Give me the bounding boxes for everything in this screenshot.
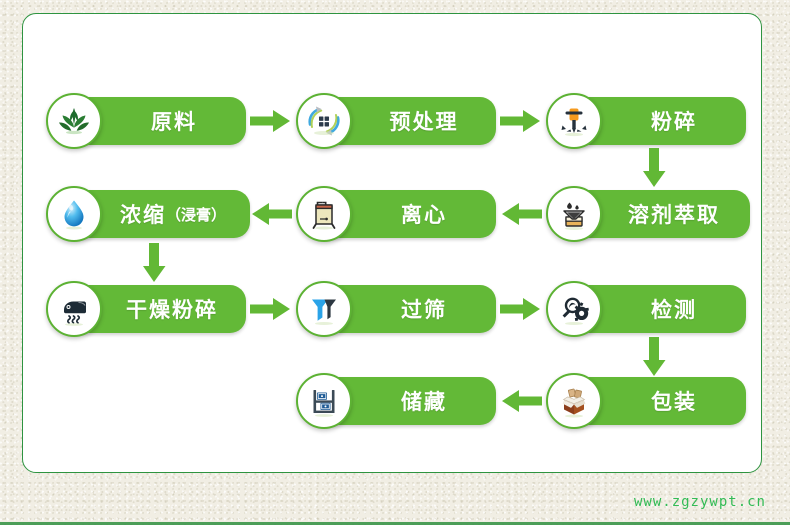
flow-node-crushing[interactable]: 粉碎 <box>546 93 746 149</box>
herb-leaves-icon <box>46 93 102 149</box>
label-text: 过筛 <box>401 294 447 324</box>
jackhammer-crush-icon <box>546 93 602 149</box>
flow-node-pretreatment[interactable]: 预处理 <box>296 93 496 149</box>
flow-node-inspection[interactable]: 检测 <box>546 281 746 337</box>
flow-node-label-solvent-extract: 溶剂萃取 <box>598 190 750 238</box>
flow-node-label-concentration: 浓缩（浸膏） <box>96 190 250 238</box>
connector-inspection-to-packaging <box>641 337 667 377</box>
flow-node-sieving[interactable]: 过筛 <box>296 281 496 337</box>
label-text: 溶剂萃取 <box>628 199 720 229</box>
flow-node-label-sieving: 过筛 <box>352 285 496 333</box>
flow-node-label-dry-pulverize: 干燥粉碎 <box>98 285 246 333</box>
recycle-process-icon <box>296 93 352 149</box>
label-text: 浓缩 <box>120 199 166 229</box>
site-url-watermark: www.zgzywpt.cn <box>634 494 766 510</box>
flow-node-label-pretreatment: 预处理 <box>352 97 496 145</box>
label-text: 包装 <box>651 386 697 416</box>
label-text: 离心 <box>401 199 447 229</box>
magnifier-gear-icon <box>546 281 602 337</box>
connector-centrifuge-to-concentration <box>250 201 292 227</box>
flow-node-raw-material[interactable]: 原料 <box>46 93 246 149</box>
connector-crushing-to-solvent-extract <box>641 148 667 188</box>
connector-sieving-to-inspection <box>500 296 542 322</box>
connector-packaging-to-storage <box>500 388 542 414</box>
flow-node-concentration[interactable]: 浓缩（浸膏） <box>46 186 250 242</box>
label-text: 储藏 <box>401 386 447 416</box>
connector-dry-pulverize-to-sieving <box>250 296 292 322</box>
flow-node-storage[interactable]: 储藏 <box>296 373 496 429</box>
flow-node-solvent-extract[interactable]: 溶剂萃取 <box>546 186 750 242</box>
label-text: 原料 <box>151 106 197 136</box>
connector-concentration-to-dry-pulverize <box>141 243 167 283</box>
flow-node-dry-pulverize[interactable]: 干燥粉碎 <box>46 281 246 337</box>
connector-solvent-extract-to-centrifuge <box>500 201 542 227</box>
flow-node-label-inspection: 检测 <box>602 285 746 333</box>
funnel-beaker-icon <box>546 186 602 242</box>
flow-node-label-storage: 储藏 <box>352 377 496 425</box>
flow-node-packaging[interactable]: 包装 <box>546 373 746 429</box>
connector-pretreatment-to-crushing <box>500 108 542 134</box>
flow-node-label-packaging: 包装 <box>602 377 746 425</box>
label-text: 检测 <box>651 294 697 324</box>
flow-node-centrifuge[interactable]: 离心 <box>296 186 496 242</box>
flow-node-label-centrifuge: 离心 <box>352 190 496 238</box>
filter-funnel-icon <box>296 281 352 337</box>
label-text: 粉碎 <box>651 106 697 136</box>
flow-node-label-raw-material: 原料 <box>102 97 246 145</box>
hot-air-dryer-icon <box>46 281 102 337</box>
warehouse-shelf-icon <box>296 373 352 429</box>
label-text: 干燥粉碎 <box>126 294 218 324</box>
flow-node-label-crushing: 粉碎 <box>602 97 746 145</box>
connector-raw-to-pretreatment <box>250 108 292 134</box>
label-subtext: （浸膏） <box>166 204 226 225</box>
open-carton-box-icon <box>546 373 602 429</box>
centrifuge-machine-icon <box>296 186 352 242</box>
label-text: 预处理 <box>390 106 459 136</box>
water-drop-icon <box>46 186 102 242</box>
